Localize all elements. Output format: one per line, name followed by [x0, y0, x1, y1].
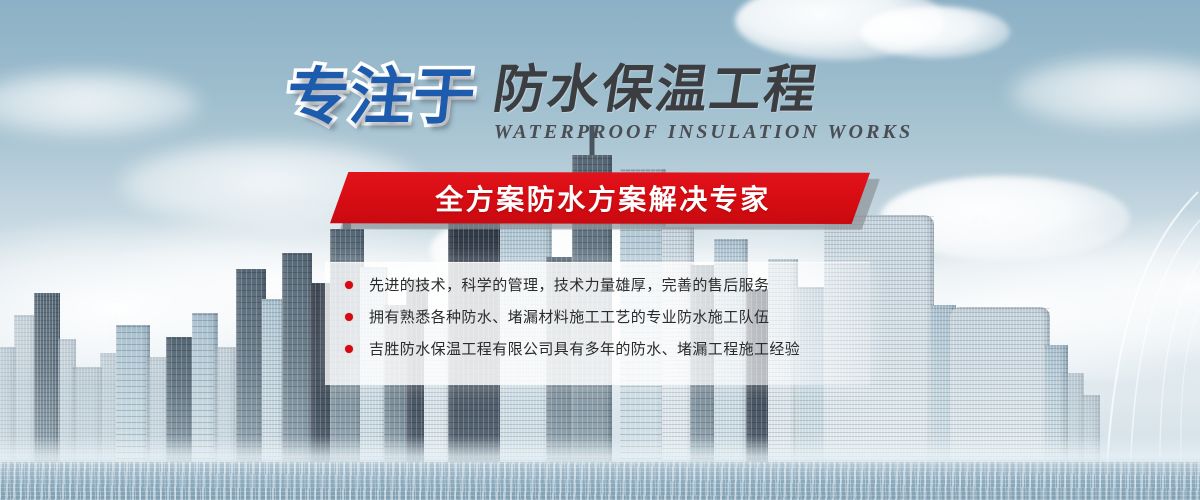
bullet-dot-icon [345, 313, 353, 321]
feature-list: 先进的技术，科学的管理，技术力量雄厚，完善的售后服务 拥有熟悉各种防水、堵漏材料… [345, 276, 865, 358]
headline-title-cn: 防水保温工程 [490, 64, 822, 117]
building [282, 253, 312, 465]
slogan-ribbon-wrap: 全方案防水方案解决专家 [0, 172, 1200, 232]
slogan-ribbon: 全方案防水方案解决专家 [330, 172, 870, 224]
feature-item: 吉胜防水保温工程有限公司具有多年的防水、堵漏工程施工经验 [345, 340, 865, 359]
cloud-shape [860, 6, 1010, 58]
headline-block: 专注于 防水保温工程 WATERPROOF INSULATION WORKS [0, 52, 1200, 152]
slogan-ribbon-body: 全方案防水方案解决专家 [330, 172, 870, 224]
bullet-dot-icon [345, 345, 353, 353]
headline-title-en: WATERPROOF INSULATION WORKS [494, 121, 913, 144]
bullet-dot-icon [345, 281, 353, 289]
feature-item: 先进的技术，科学的管理，技术力量雄厚，完善的售后服务 [345, 276, 865, 295]
slogan-text: 全方案防水方案解决专家 [429, 178, 771, 218]
headline-kicker: 专注于 [284, 66, 484, 128]
feature-item: 拥有熟悉各种防水、堵漏材料施工工艺的专业防水施工队伍 [345, 308, 865, 327]
feature-text: 先进的技术，科学的管理，技术力量雄厚，完善的售后服务 [369, 276, 769, 295]
feature-text: 拥有熟悉各种防水、堵漏材料施工工艺的专业防水施工队伍 [369, 308, 769, 327]
feature-text: 吉胜防水保温工程有限公司具有多年的防水、堵漏工程施工经验 [369, 340, 800, 359]
water-surface [0, 462, 1200, 500]
promo-banner: 专注于 防水保温工程 WATERPROOF INSULATION WORKS 全… [0, 0, 1200, 500]
